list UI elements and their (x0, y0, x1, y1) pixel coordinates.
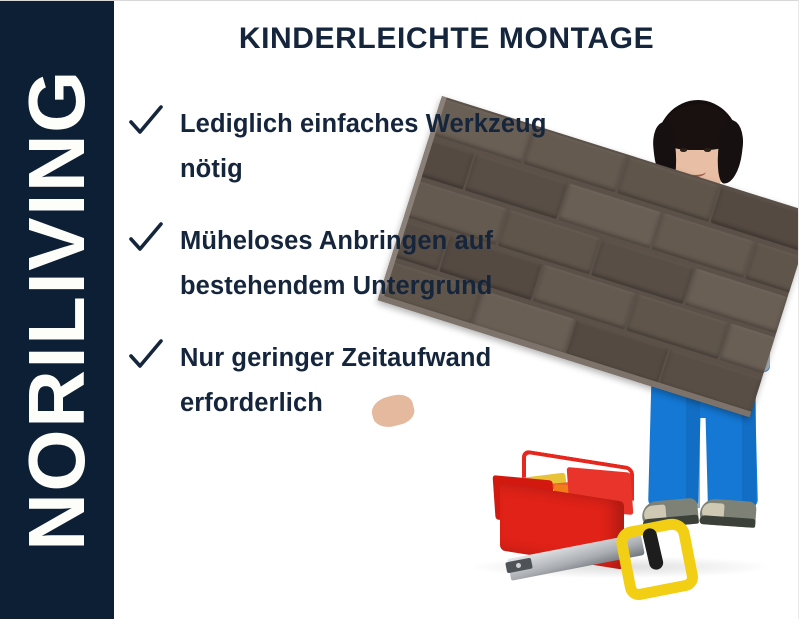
promo-banner: NORILIVING KINDERLEICHTE MONTAGE Ledigli… (0, 0, 799, 619)
list-item-label: Lediglich einfaches Werkzeug nötig (180, 102, 558, 193)
brand-wordmark: NORILIVING (17, 69, 97, 551)
list-item: Müheloses Anbringen auf bestehendem Unte… (128, 219, 558, 310)
brand-sidebar: NORILIVING (0, 0, 114, 619)
eye-left (680, 148, 687, 152)
list-item-label: Nur geringer Zeitaufwand erforderlich (180, 336, 558, 427)
list-item-label: Müheloses Anbringen auf bestehendem Unte… (180, 219, 558, 310)
shoe-sole (699, 515, 755, 528)
check-icon (128, 338, 164, 372)
hand-saw (508, 526, 680, 582)
feature-list: Lediglich einfaches Werkzeug nötig Mühel… (128, 102, 558, 426)
red-toolbox (492, 452, 682, 582)
shoe-right (699, 498, 757, 528)
page-title: KINDERLEICHTE MONTAGE (114, 22, 779, 56)
check-icon (128, 221, 164, 255)
list-item: Lediglich einfaches Werkzeug nötig (128, 102, 558, 193)
saw-hole (516, 563, 521, 568)
check-icon (128, 104, 164, 138)
eye-right (704, 148, 711, 152)
list-item: Nur geringer Zeitaufwand erforderlich (128, 336, 558, 427)
